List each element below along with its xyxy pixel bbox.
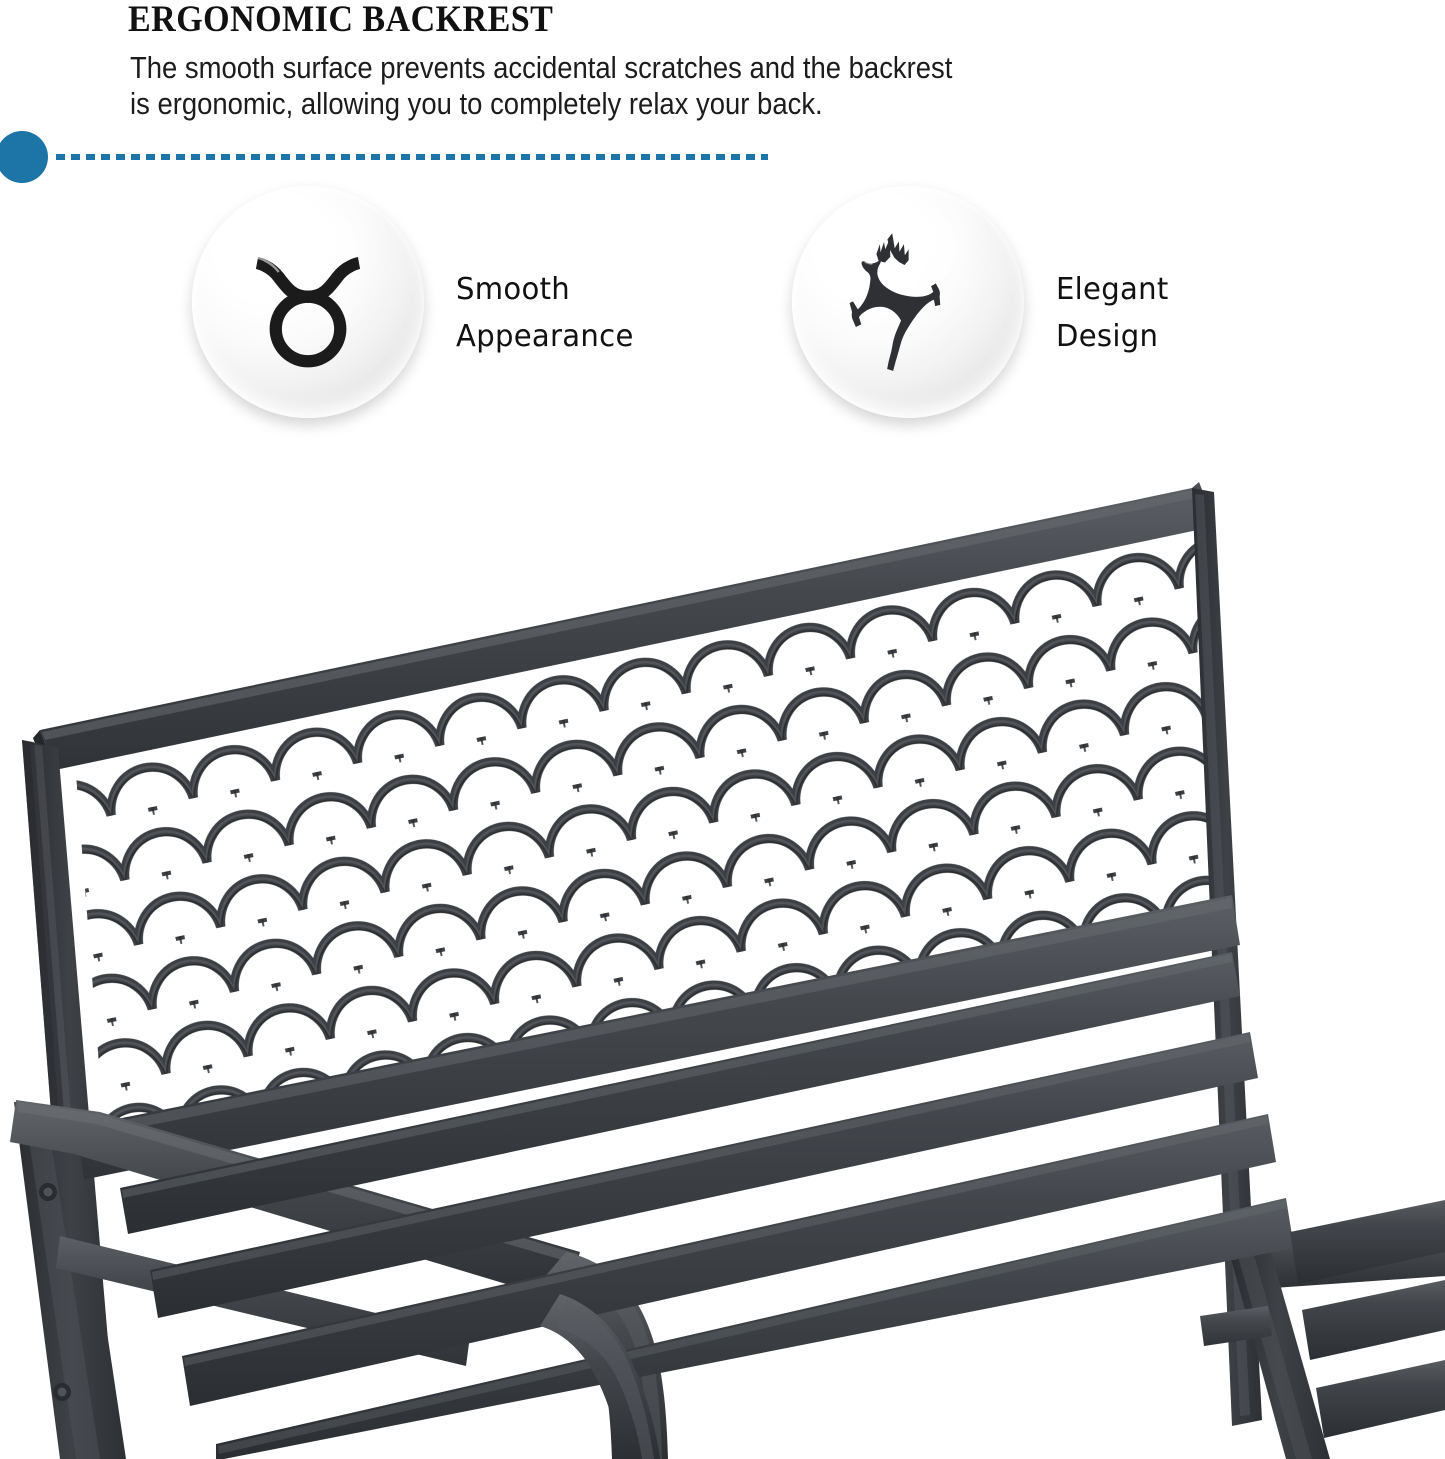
feature-smooth-appearance: Smooth Appearance (192, 186, 712, 426)
page-subtitle: The smooth surface prevents accidental s… (130, 50, 1273, 122)
dashed-line-icon (56, 154, 768, 160)
feature-label: Smooth Appearance (456, 266, 634, 360)
divider (0, 131, 820, 183)
feature-label: Elegant Design (1056, 266, 1169, 360)
leaping-deer-icon (792, 186, 1024, 418)
product-photo (0, 440, 1445, 1459)
blue-dot-icon (0, 131, 48, 183)
taurus-bull-icon (192, 186, 424, 418)
feature-elegant-design: Elegant Design (792, 186, 1312, 426)
page-title: ERGONOMIC BACKREST (128, 0, 553, 41)
